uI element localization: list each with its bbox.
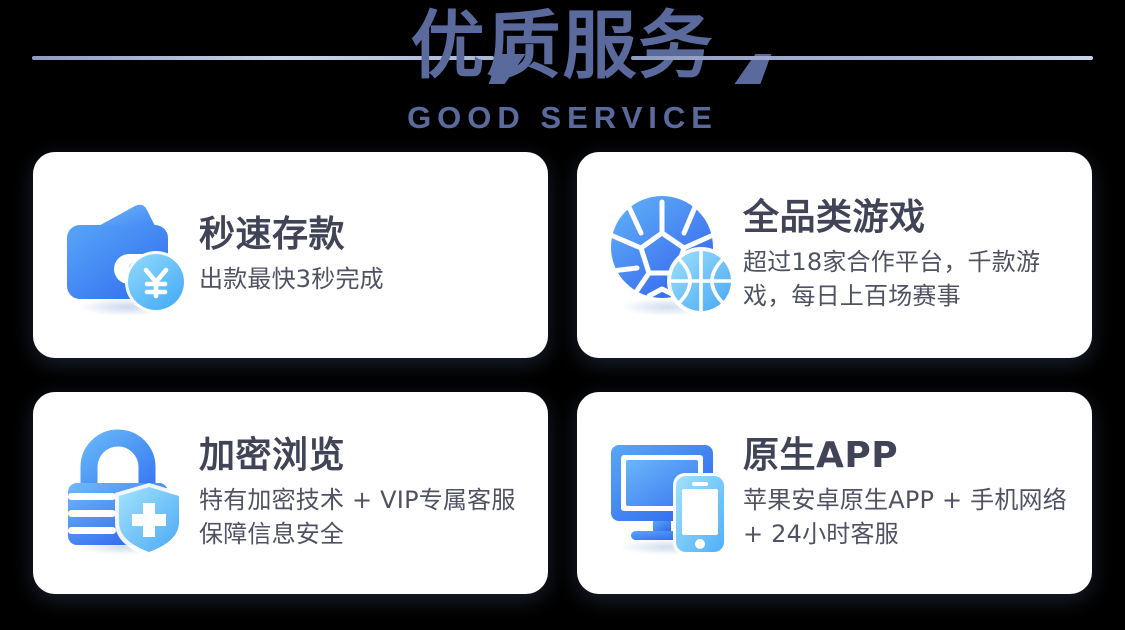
monitor-phone-icon <box>605 427 737 559</box>
wallet-yen-icon <box>61 189 193 321</box>
card-text-block: 加密浏览 特有加密技术 + VIP专属客服保障信息安全 <box>199 435 532 551</box>
feature-card-deposit[interactable]: 秒速存款 出款最快3秒完成 <box>33 152 548 358</box>
header-rule-right <box>631 56 1093 60</box>
card-description: 出款最快3秒完成 <box>199 262 532 296</box>
card-text-block: 秒速存款 出款最快3秒完成 <box>199 214 532 295</box>
soccer-basketball-icon <box>605 189 737 321</box>
card-description: 超过18家合作平台，千款游戏，每日上百场赛事 <box>743 245 1076 313</box>
page-title: 优质服务 <box>0 8 1125 86</box>
card-title: 秒速存款 <box>199 214 532 255</box>
card-title: 全品类游戏 <box>743 197 1076 238</box>
card-title: 加密浏览 <box>199 435 532 476</box>
feature-card-grid: 秒速存款 出款最快3秒完成 <box>33 152 1092 594</box>
lock-shield-icon <box>61 427 193 559</box>
card-text-block: 原生APP 苹果安卓原生APP + 手机网络 + 24小时客服 <box>743 435 1076 551</box>
card-description: 苹果安卓原生APP + 手机网络 + 24小时客服 <box>743 483 1076 551</box>
page-subtitle: GOOD SERVICE <box>0 100 1125 136</box>
card-description: 特有加密技术 + VIP专属客服保障信息安全 <box>199 483 532 551</box>
card-title: 原生APP <box>743 435 1076 476</box>
feature-card-native-app[interactable]: 原生APP 苹果安卓原生APP + 手机网络 + 24小时客服 <box>577 392 1092 594</box>
feature-card-games[interactable]: 全品类游戏 超过18家合作平台，千款游戏，每日上百场赛事 <box>577 152 1092 358</box>
banner-header: 优质服务 GOOD SERVICE <box>0 0 1125 140</box>
feature-card-encryption[interactable]: 加密浏览 特有加密技术 + VIP专属客服保障信息安全 <box>33 392 548 594</box>
card-text-block: 全品类游戏 超过18家合作平台，千款游戏，每日上百场赛事 <box>743 197 1076 313</box>
good-service-banner: 优质服务 GOOD SERVICE <box>0 0 1125 630</box>
